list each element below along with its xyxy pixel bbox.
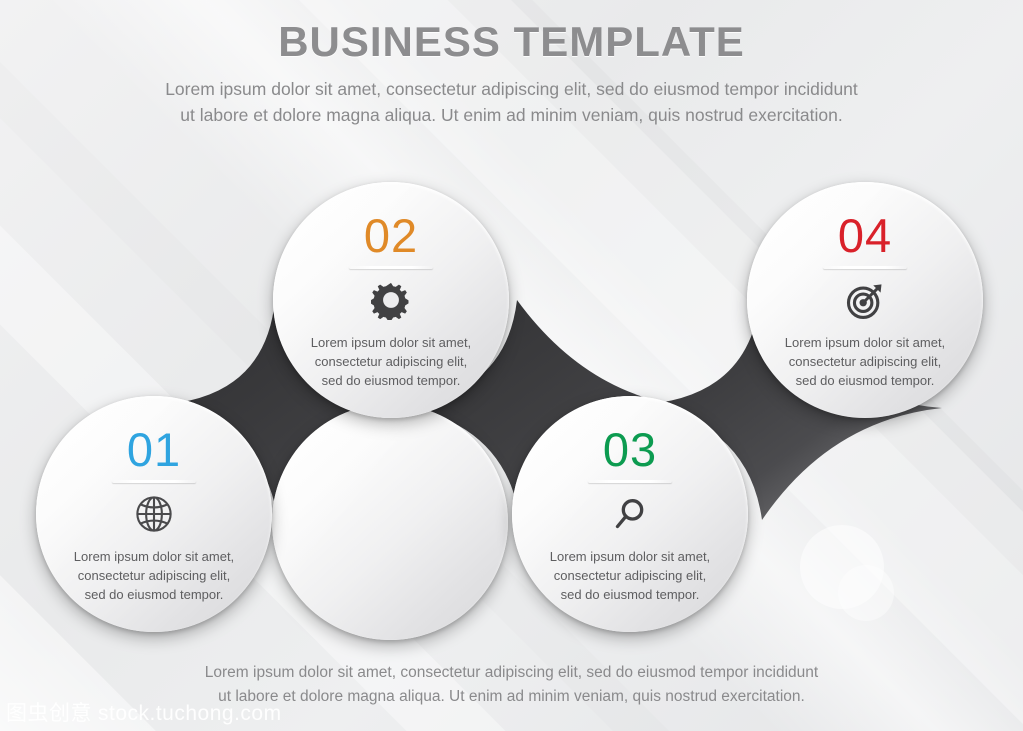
infographic-canvas: BUSINESS TEMPLATE Lorem ipsum dolor sit … — [0, 0, 1023, 731]
desc-line-2: consectetur adipiscing elit, — [57, 566, 251, 585]
filler-circle — [272, 404, 508, 640]
step-circle-02[interactable]: 02 Lorem ipsum dolor sit amet, consectet… — [273, 182, 509, 418]
step-number-02: 02 — [364, 212, 418, 259]
step-divider — [349, 266, 433, 269]
desc-line-2: consectetur adipiscing elit, — [294, 352, 488, 371]
step-circle-03[interactable]: 03 Lorem ipsum dolor sit amet, consectet… — [512, 396, 748, 632]
target-icon — [843, 275, 887, 325]
desc-line-1: Lorem ipsum dolor sit amet, — [768, 333, 962, 352]
step-number-03: 03 — [603, 426, 657, 473]
desc-line-1: Lorem ipsum dolor sit amet, — [533, 547, 727, 566]
step-description-04: Lorem ipsum dolor sit amet, consectetur … — [768, 333, 962, 390]
footer-line-1: Lorem ipsum dolor sit amet, consectetur … — [0, 661, 1023, 685]
step-circle-04[interactable]: 04 Lorem — [747, 182, 983, 418]
step-description-02: Lorem ipsum dolor sit amet, consectetur … — [294, 333, 488, 390]
globe-icon — [133, 489, 175, 539]
watermark-brand-cn: 图虫创意 — [6, 702, 92, 725]
desc-line-3: sed do eiusmod tempor. — [768, 371, 962, 390]
step-description-03: Lorem ipsum dolor sit amet, consectetur … — [533, 547, 727, 604]
step-number-04: 04 — [838, 212, 892, 259]
desc-line-2: consectetur adipiscing elit, — [533, 566, 727, 585]
desc-line-1: Lorem ipsum dolor sit amet, — [294, 333, 488, 352]
step-circle-01[interactable]: 01 Lorem ipsum d — [36, 396, 272, 632]
desc-line-1: Lorem ipsum dolor sit amet, — [57, 547, 251, 566]
desc-line-3: sed do eiusmod tempor. — [533, 585, 727, 604]
desc-line-3: sed do eiusmod tempor. — [294, 371, 488, 390]
desc-line-2: consectetur adipiscing elit, — [768, 352, 962, 371]
step-description-01: Lorem ipsum dolor sit amet, consectetur … — [57, 547, 251, 604]
watermark-brand-url: stock.tuchong.com — [98, 702, 282, 725]
magnifier-icon — [610, 489, 650, 539]
desc-line-3: sed do eiusmod tempor. — [57, 585, 251, 604]
steps-group: 01 Lorem ipsum d — [0, 0, 1023, 731]
step-divider — [588, 480, 672, 483]
step-divider — [823, 266, 907, 269]
step-number-01: 01 — [127, 426, 181, 473]
gear-icon — [371, 275, 411, 325]
step-divider — [112, 480, 196, 483]
watermark: 图虫创意stock.tuchong.com — [6, 697, 282, 727]
